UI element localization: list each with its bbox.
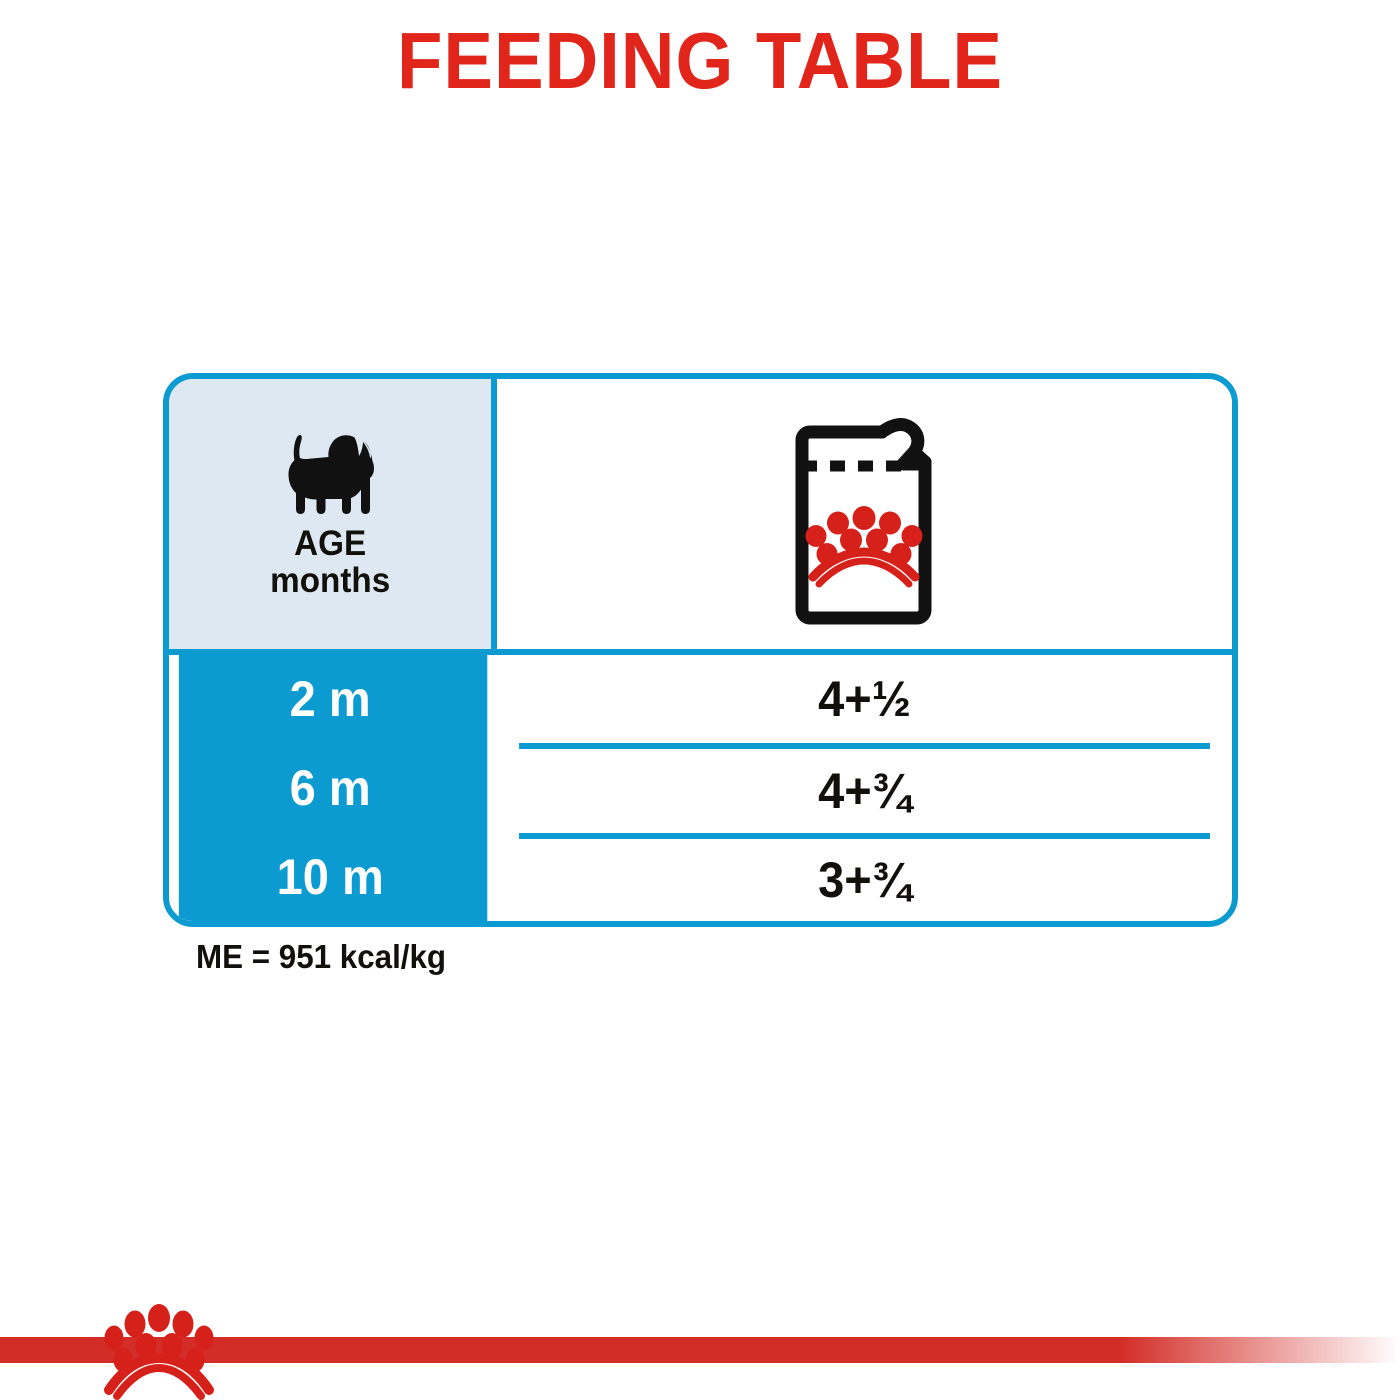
table-row-portion-1: 4+½ — [519, 655, 1210, 743]
age-label-line2: months — [270, 562, 390, 599]
wet-food-pouch-icon — [777, 402, 952, 627]
crown-logo-inside-pouch — [806, 506, 923, 584]
table-header-portion — [497, 379, 1232, 655]
page-title: FEEDING TABLE — [49, 16, 1351, 106]
table-header-age-label: AGE months — [270, 525, 390, 599]
royal-canin-crown-logo — [95, 1300, 223, 1400]
feeding-table: AGE months — [163, 373, 1238, 927]
table-row-age-1: 2 m — [179, 655, 487, 743]
table-row-portion-2: 4+¾ — [519, 743, 1210, 833]
table-row-portion-3: 3+¾ — [519, 833, 1210, 921]
table-header-age: AGE months — [169, 379, 497, 655]
puppy-icon — [276, 429, 384, 515]
age-label-line1: AGE — [270, 525, 390, 562]
feeding-table-grid: AGE months — [169, 379, 1232, 921]
metabolisable-energy-note: ME = 951 kcal/kg — [196, 938, 446, 976]
table-row-age-3: 10 m — [179, 833, 487, 921]
table-row-age-2: 6 m — [179, 743, 487, 833]
